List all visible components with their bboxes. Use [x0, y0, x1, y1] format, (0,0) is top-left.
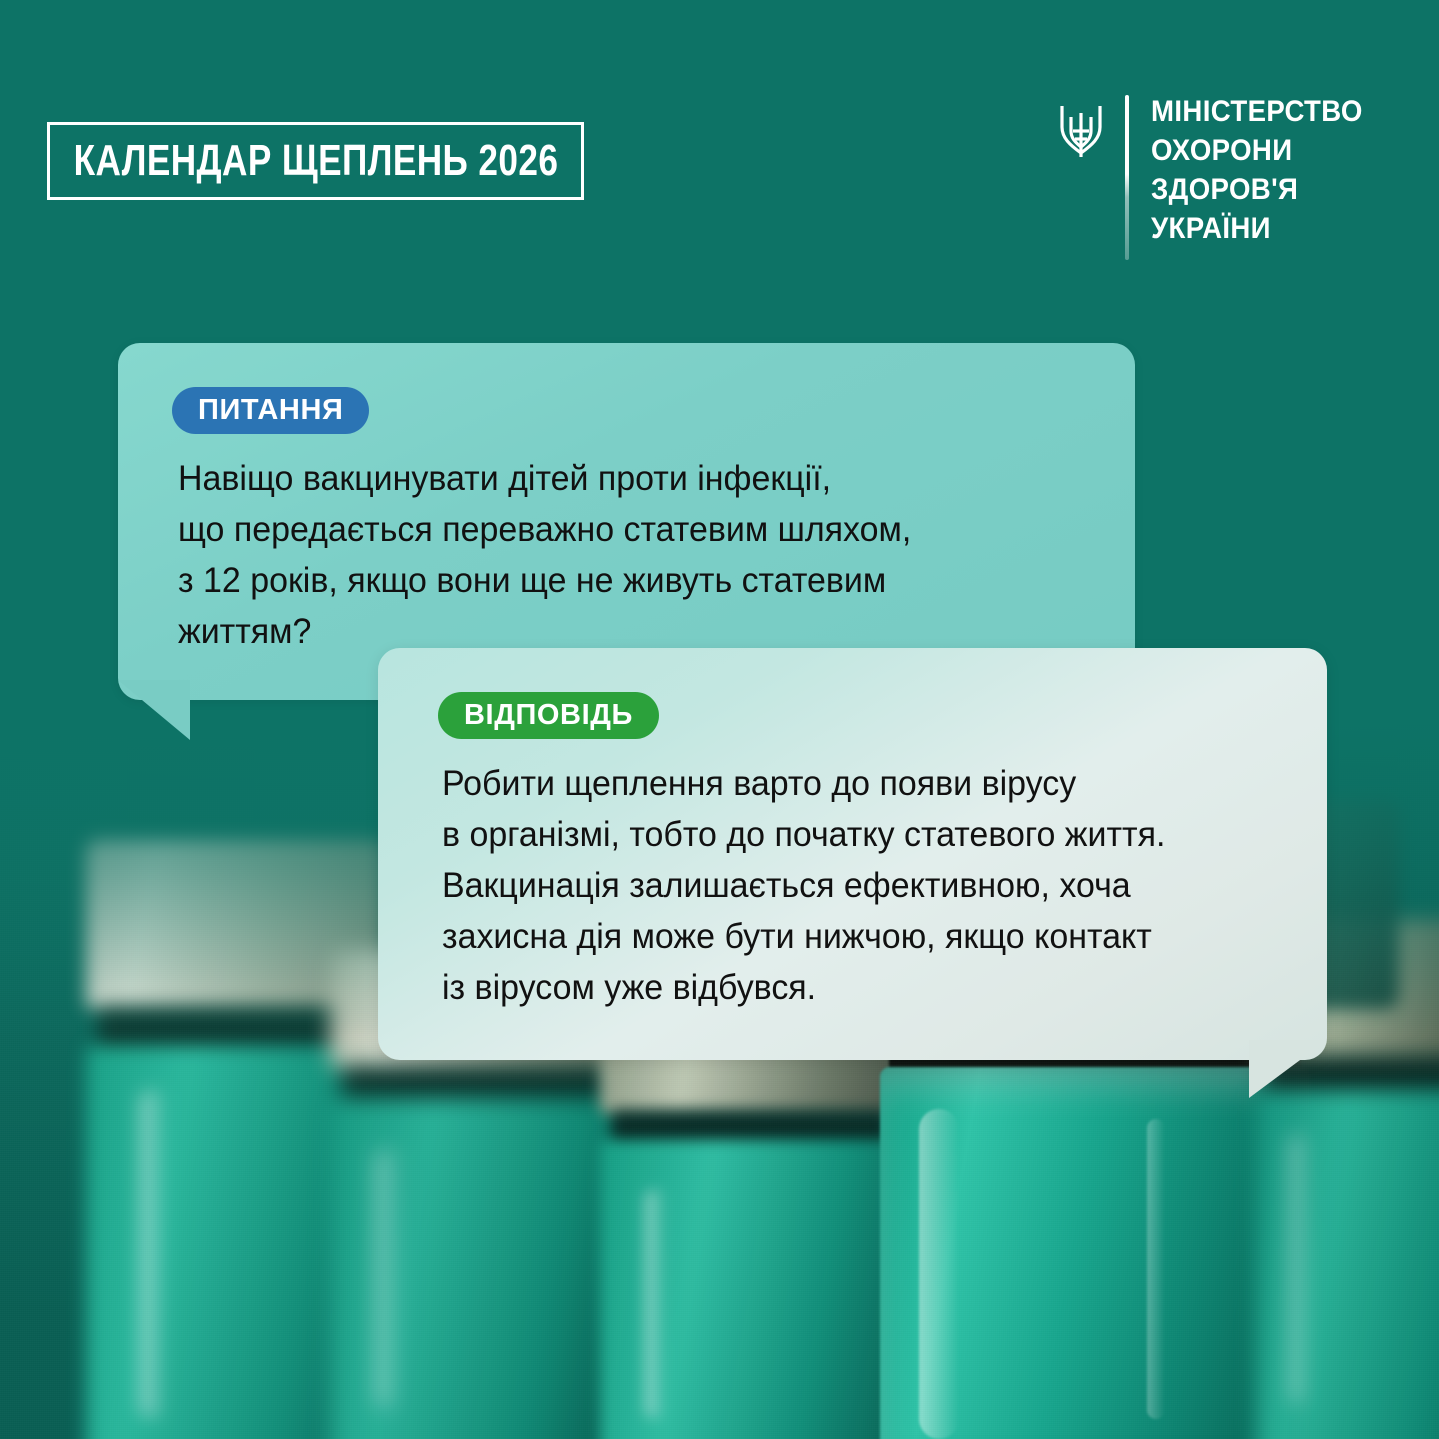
question-text: Навіщо вакцинувати дітей проти інфекції,…: [178, 453, 1067, 657]
logo-divider: [1125, 95, 1129, 260]
question-bubble: ПИТАННЯ Навіщо вакцинувати дітей проти і…: [118, 343, 1135, 700]
logo-line-1: МІНІСТЕРСТВО: [1151, 97, 1363, 127]
logo-line-4: УКРАЇНИ: [1151, 214, 1363, 244]
answer-badge: ВІДПОВІДЬ: [438, 692, 659, 739]
ukraine-trident-icon: [1053, 101, 1109, 165]
poster: КАЛЕНДАР ЩЕПЛЕНЬ 2026 МІНІСТЕРСТВО ОХОРО…: [0, 0, 1439, 1439]
question-badge: ПИТАННЯ: [172, 387, 369, 434]
logo-line-3: ЗДОРОВ'Я: [1151, 175, 1363, 205]
answer-bubble: ВІДПОВІДЬ Робити щеплення варто до появи…: [378, 648, 1327, 1060]
page-title-box: КАЛЕНДАР ЩЕПЛЕНЬ 2026: [47, 122, 584, 200]
answer-text: Робити щеплення варто до появи вірусу в …: [442, 758, 1266, 1013]
answer-bubble-tail: [1249, 1040, 1327, 1098]
page-title: КАЛЕНДАР ЩЕПЛЕНЬ 2026: [73, 139, 558, 183]
ministry-logo: МІНІСТЕРСТВО ОХОРОНИ ЗДОРОВ'Я УКРАЇНИ: [1053, 95, 1381, 260]
logo-line-2: ОХОРОНИ: [1151, 136, 1363, 166]
question-bubble-tail: [118, 680, 190, 740]
logo-text: МІНІСТЕРСТВО ОХОРОНИ ЗДОРОВ'Я УКРАЇНИ: [1151, 95, 1381, 244]
